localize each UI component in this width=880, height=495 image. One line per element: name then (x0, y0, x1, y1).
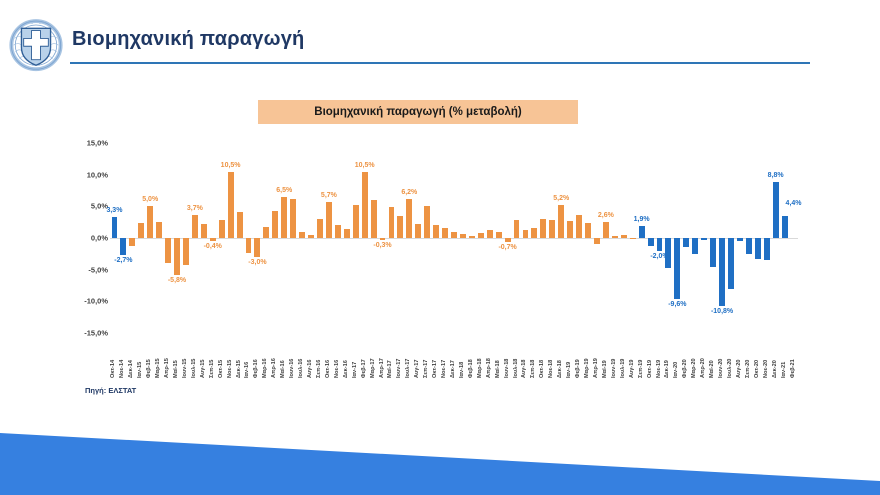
bar (219, 220, 225, 238)
x-axis-tick-label: Οκτ-15 (218, 360, 224, 378)
chart-container: Βιομηχανική παραγωγή (% μεταβολή) 15,0%1… (0, 86, 880, 416)
bar (228, 172, 234, 239)
bar (290, 199, 296, 238)
bar (487, 230, 493, 238)
x-axis-tick-label: Νοε-16 (334, 360, 340, 378)
x-axis-tick-label: Νοε-19 (656, 360, 662, 378)
bar (210, 238, 216, 241)
x-axis-tick-label: Μαρ-19 (584, 358, 590, 378)
bar (353, 205, 359, 238)
bar (263, 227, 269, 238)
bar-series: 3,3%-2,7%5,0%-5,8%3,7%-0,4%10,5%-3,0%6,5… (110, 143, 798, 333)
slide: Βιομηχανική παραγωγή Βιομηχανική παραγωγ… (0, 0, 880, 495)
bar (138, 223, 144, 238)
bar (639, 226, 645, 238)
x-axis-tick-label: Φεβ-21 (790, 359, 796, 378)
x-axis-tick-label: Ιουν-19 (611, 359, 617, 378)
x-axis-tick-label: Οκτ-20 (754, 360, 760, 378)
x-axis-tick-label: Φεβ-15 (146, 359, 152, 378)
bar (478, 233, 484, 238)
bar (540, 219, 546, 238)
bar (514, 220, 520, 238)
bar (192, 215, 198, 238)
bar (621, 235, 627, 238)
x-axis-tick-label: Απρ-18 (486, 358, 492, 378)
bar-data-label: -0,7% (498, 244, 516, 251)
y-axis-tick-label: -5,0% (72, 265, 108, 274)
bar (326, 202, 332, 238)
bar (254, 238, 260, 257)
bar-data-label: -0,4% (204, 243, 222, 250)
bar (505, 238, 511, 242)
bar (406, 199, 412, 238)
x-axis-tick-label: Απρ-15 (164, 358, 170, 378)
bar (585, 223, 591, 238)
x-axis-tick-label: Ιουλ-17 (405, 359, 411, 378)
x-axis-tick-label: Ιουν-16 (289, 359, 295, 378)
x-axis-tick-label: Φεβ-19 (575, 359, 581, 378)
bar (147, 206, 153, 238)
bar (237, 212, 243, 238)
bar (460, 234, 466, 238)
bar (567, 221, 573, 238)
x-axis-tick-label: Οκτ-17 (432, 360, 438, 378)
bar (281, 197, 287, 238)
y-axis-tick-label: 5,0% (72, 202, 108, 211)
bar (594, 238, 600, 244)
bar (362, 172, 368, 239)
bar (397, 216, 403, 238)
x-axis-tick-label: Μαϊ-16 (280, 360, 286, 378)
x-axis-tick-label: Σεπ-18 (530, 360, 536, 378)
bar-data-label: 4,4% (786, 200, 802, 207)
bar (308, 235, 314, 238)
x-axis-tick-label: Αυγ-18 (521, 360, 527, 379)
bar (782, 216, 788, 238)
bar (674, 238, 680, 299)
bar (576, 215, 582, 238)
x-axis-tick-label: Μαρ-17 (370, 358, 376, 378)
bar-data-label: 2,6% (598, 212, 614, 219)
x-axis-tick-label: Μαϊ-20 (709, 360, 715, 378)
x-axis-tick-label: Ιαν-17 (352, 362, 358, 378)
bar (112, 217, 118, 238)
x-axis-tick-label: Νοε-14 (119, 360, 125, 378)
x-axis-tick-label: Νοε-15 (227, 360, 233, 378)
bar (549, 220, 555, 238)
bar (129, 238, 135, 246)
bar (442, 228, 448, 238)
bar (701, 238, 707, 240)
bar-data-label: 5,0% (142, 196, 158, 203)
bar (737, 238, 743, 241)
footer-wedge-decoration (0, 417, 880, 495)
bar (710, 238, 716, 267)
bar (764, 238, 770, 260)
x-axis-tick-label: Δεκ-18 (557, 360, 563, 378)
x-axis-tick-label: Αυγ-20 (736, 360, 742, 379)
chart-title: Βιομηχανική παραγωγή (% μεταβολή) (258, 100, 578, 124)
x-axis-tick-label: Νοε-20 (763, 360, 769, 378)
x-axis-tick-label: Ιουν-17 (396, 359, 402, 378)
slide-header: Βιομηχανική παραγωγή (0, 0, 880, 78)
x-axis-tick-label: Αυγ-17 (414, 360, 420, 379)
bar-data-label: 5,2% (553, 195, 569, 202)
bar (755, 238, 761, 259)
x-axis-tick-label: Απρ-16 (271, 358, 277, 378)
bar (469, 236, 475, 238)
bar (558, 205, 564, 238)
x-axis-tick-label: Απρ-17 (379, 358, 385, 378)
x-axis-tick-label: Δεκ-14 (128, 360, 134, 378)
x-axis-tick-label: Απρ-20 (700, 358, 706, 378)
bar (657, 238, 663, 251)
x-axis-tick-label: Φεβ-18 (468, 359, 474, 378)
bar-data-label: 5,7% (321, 192, 337, 199)
x-axis-tick-label: Ιουλ-20 (727, 359, 733, 378)
x-axis-tick-label: Δεκ-17 (450, 360, 456, 378)
bar (120, 238, 126, 255)
x-axis-tick-label: Ιουλ-15 (191, 359, 197, 378)
bar (174, 238, 180, 275)
x-axis-tick-label: Φεβ-20 (682, 359, 688, 378)
x-axis-tick-label: Ιουλ-16 (298, 359, 304, 378)
x-axis-tick-label: Μαρ-15 (155, 358, 161, 378)
x-axis-tick-label: Οκτ-19 (647, 360, 653, 378)
x-axis-tick-label: Μαϊ-17 (387, 360, 393, 378)
bar (451, 232, 457, 238)
x-axis-tick-label: Φεβ-17 (361, 359, 367, 378)
bar (719, 238, 725, 306)
bar (371, 200, 377, 238)
x-axis-tick-label: Δεκ-20 (772, 360, 778, 378)
bar (344, 229, 350, 238)
bar-data-label: -2,7% (114, 257, 132, 264)
x-axis-tick-label: Μαρ-16 (262, 358, 268, 378)
bar (728, 238, 734, 289)
bar (183, 238, 189, 265)
bar (648, 238, 654, 246)
bar (335, 225, 341, 238)
x-axis-tick-label: Ιουλ-18 (513, 359, 519, 378)
x-axis-tick-label: Μαϊ-19 (602, 360, 608, 378)
x-axis-tick-label: Ιουλ-19 (620, 359, 626, 378)
bar-data-label: 6,2% (401, 189, 417, 196)
x-axis-tick-label: Σεπ-17 (423, 360, 429, 378)
y-axis-tick-label: 0,0% (72, 234, 108, 243)
x-axis-tick-label: Ιαν-20 (673, 362, 679, 378)
bar (683, 238, 689, 247)
bar (415, 224, 421, 238)
x-axis-tick-label: Αυγ-16 (307, 360, 313, 379)
bar-data-label: 10,5% (221, 162, 241, 169)
bar (272, 211, 278, 238)
x-axis-tick-label: Απρ-19 (593, 358, 599, 378)
source-note: Πηγή: ΕΛΣΤΑΤ (85, 386, 136, 395)
x-axis-tick-label: Σεπ-20 (745, 360, 751, 378)
bar-data-label: 1,9% (634, 216, 650, 223)
page-title: Βιομηχανική παραγωγή (72, 28, 304, 51)
bar-data-label: 10,5% (355, 162, 375, 169)
bar (791, 210, 797, 238)
x-axis-tick-label: Ιαν-16 (244, 362, 250, 378)
x-axis-tick-label: Δεκ-16 (343, 360, 349, 378)
bar-data-label: -3,0% (248, 259, 266, 266)
x-axis-tick-label: Δεκ-15 (236, 360, 242, 378)
bar (165, 238, 171, 263)
x-axis-tick-label: Σεπ-16 (316, 360, 322, 378)
y-axis-tick-label: 10,0% (72, 170, 108, 179)
bar (612, 236, 618, 238)
x-axis: Οκτ-14Νοε-14Δεκ-14Ιαν-15Φεβ-15Μαρ-15Απρ-… (110, 336, 798, 378)
bar (603, 222, 609, 238)
x-axis-tick-label: Ιουν-18 (504, 359, 510, 378)
plot-area: 3,3%-2,7%5,0%-5,8%3,7%-0,4%10,5%-3,0%6,5… (110, 143, 798, 333)
bar (773, 182, 779, 238)
x-axis-tick-label: Αυγ-15 (200, 360, 206, 379)
x-axis-tick-label: Μαρ-18 (477, 358, 483, 378)
bar (433, 225, 439, 238)
bar-data-label: 6,5% (276, 187, 292, 194)
x-axis-tick-label: Οκτ-16 (325, 360, 331, 378)
x-axis-tick-label: Οκτ-14 (110, 360, 116, 378)
bar (665, 238, 671, 268)
bar (246, 238, 252, 253)
y-axis-tick-label: -15,0% (72, 329, 108, 338)
bar (746, 238, 752, 254)
x-axis-tick-label: Ιαν-19 (566, 362, 572, 378)
x-axis-tick-label: Δεκ-19 (664, 360, 670, 378)
x-axis-tick-label: Σεπ-15 (209, 360, 215, 378)
bar (317, 219, 323, 238)
bar (299, 232, 305, 238)
bar (630, 238, 636, 239)
bar (380, 238, 386, 240)
y-axis-tick-label: 15,0% (72, 139, 108, 148)
bar (523, 230, 529, 238)
x-axis-tick-label: Φεβ-16 (253, 359, 259, 378)
bar (692, 238, 698, 254)
x-axis-tick-label: Μαρ-20 (691, 358, 697, 378)
x-axis-tick-label: Ιουν-15 (182, 359, 188, 378)
header-underline (70, 62, 810, 64)
x-axis-tick-label: Ιουν-20 (718, 359, 724, 378)
x-axis-tick-label: Νοε-17 (441, 360, 447, 378)
bar (424, 206, 430, 238)
bar-data-label: -10,8% (711, 308, 733, 315)
x-axis-tick-label: Μαϊ-18 (495, 360, 501, 378)
bar-data-label: -9,6% (668, 301, 686, 308)
bar (201, 224, 207, 238)
x-axis-tick-label: Ιαν-18 (459, 362, 465, 378)
bar-data-label: -0,3% (373, 242, 391, 249)
x-axis-tick-label: Ιαν-21 (781, 362, 787, 378)
x-axis-tick-label: Σεπ-19 (638, 360, 644, 378)
bar-data-label: -5,8% (168, 277, 186, 284)
y-axis: 15,0%10,0%5,0%0,0%-5,0%-10,0%-15,0% (72, 143, 108, 333)
bar (156, 222, 162, 238)
bar-data-label: 3,3% (106, 207, 122, 214)
y-axis-tick-label: -10,0% (72, 297, 108, 306)
x-axis-tick-label: Μαϊ-15 (173, 360, 179, 378)
x-axis-tick-label: Ιαν-15 (137, 362, 143, 378)
bar (496, 232, 502, 238)
bar-data-label: 3,7% (187, 205, 203, 212)
x-axis-tick-label: Νοε-18 (548, 360, 554, 378)
greek-coat-of-arms-icon (8, 16, 64, 72)
x-axis-tick-label: Οκτ-18 (539, 360, 545, 378)
bar-data-label: 8,8% (768, 172, 784, 179)
bar (531, 228, 537, 238)
x-axis-tick-label: Αυγ-19 (629, 360, 635, 379)
bar (389, 207, 395, 238)
